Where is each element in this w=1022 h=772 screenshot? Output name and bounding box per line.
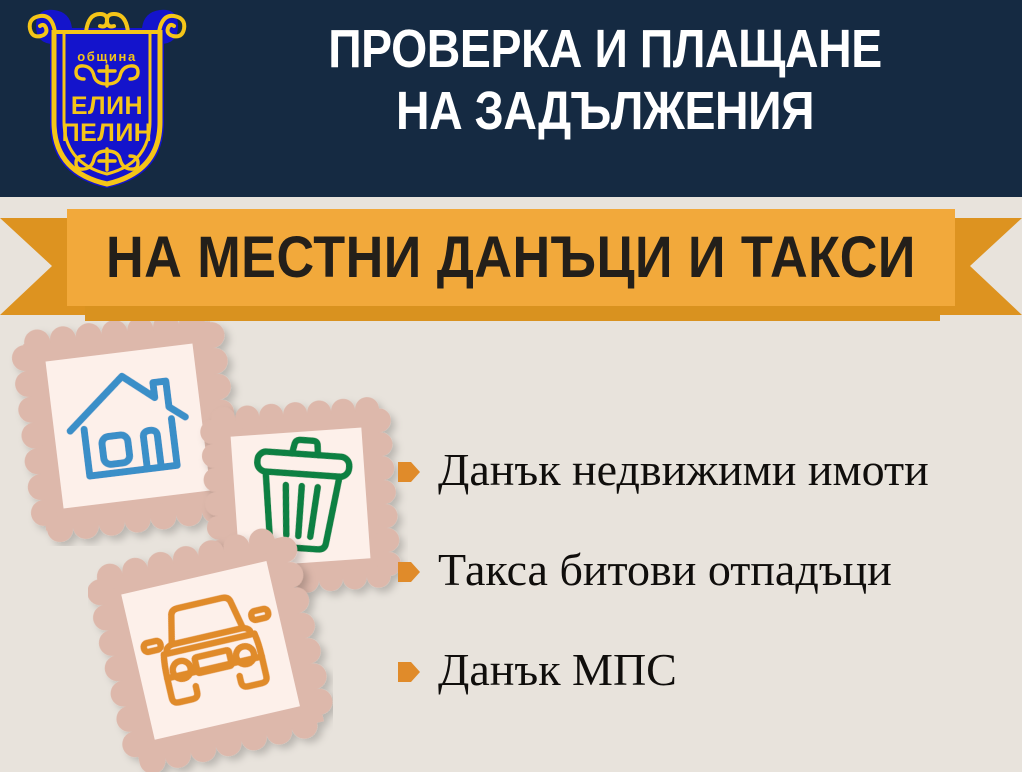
arrow-right-icon (398, 659, 420, 685)
list-item-label: Такса битови отпадъци (438, 545, 892, 595)
tax-type-list: Данък недвижими имоти Такса битови отпад… (398, 420, 1018, 720)
page-title: ПРОВЕРКА И ПЛАЩАНЕ НА ЗАДЪЛЖЕНИЯ (252, 18, 957, 142)
header-bar: община ЕЛИН ПЕЛИН (0, 0, 1022, 197)
crest-top-label: община (77, 49, 137, 64)
ribbon-banner: НА МЕСТНИ ДАНЪЦИ И ТАКСИ (0, 196, 1022, 318)
list-item-label: Данък недвижими имоти (438, 445, 929, 495)
crest-name-line-2: ПЕЛИН (62, 119, 153, 147)
list-item-label: Данък МПС (438, 645, 677, 695)
arrow-right-icon (398, 459, 420, 485)
arrow-right-icon (398, 559, 420, 585)
ribbon-main-panel: НА МЕСТНИ ДАНЪЦИ И ТАКСИ (67, 209, 955, 306)
crest-name-line-1: ЕЛИН (71, 92, 143, 120)
list-item[interactable]: Данък МПС (398, 620, 1018, 720)
list-item[interactable]: Данък недвижими имоти (398, 420, 1018, 520)
municipality-crest-logo: община ЕЛИН ПЕЛИН (22, 4, 192, 194)
ribbon-label: НА МЕСТНИ ДАНЪЦИ И ТАКСИ (106, 228, 916, 288)
poster-root: община ЕЛИН ПЕЛИН (0, 0, 1022, 772)
list-item[interactable]: Такса битови отпадъци (398, 520, 1018, 620)
stamp-card-car (88, 528, 333, 772)
